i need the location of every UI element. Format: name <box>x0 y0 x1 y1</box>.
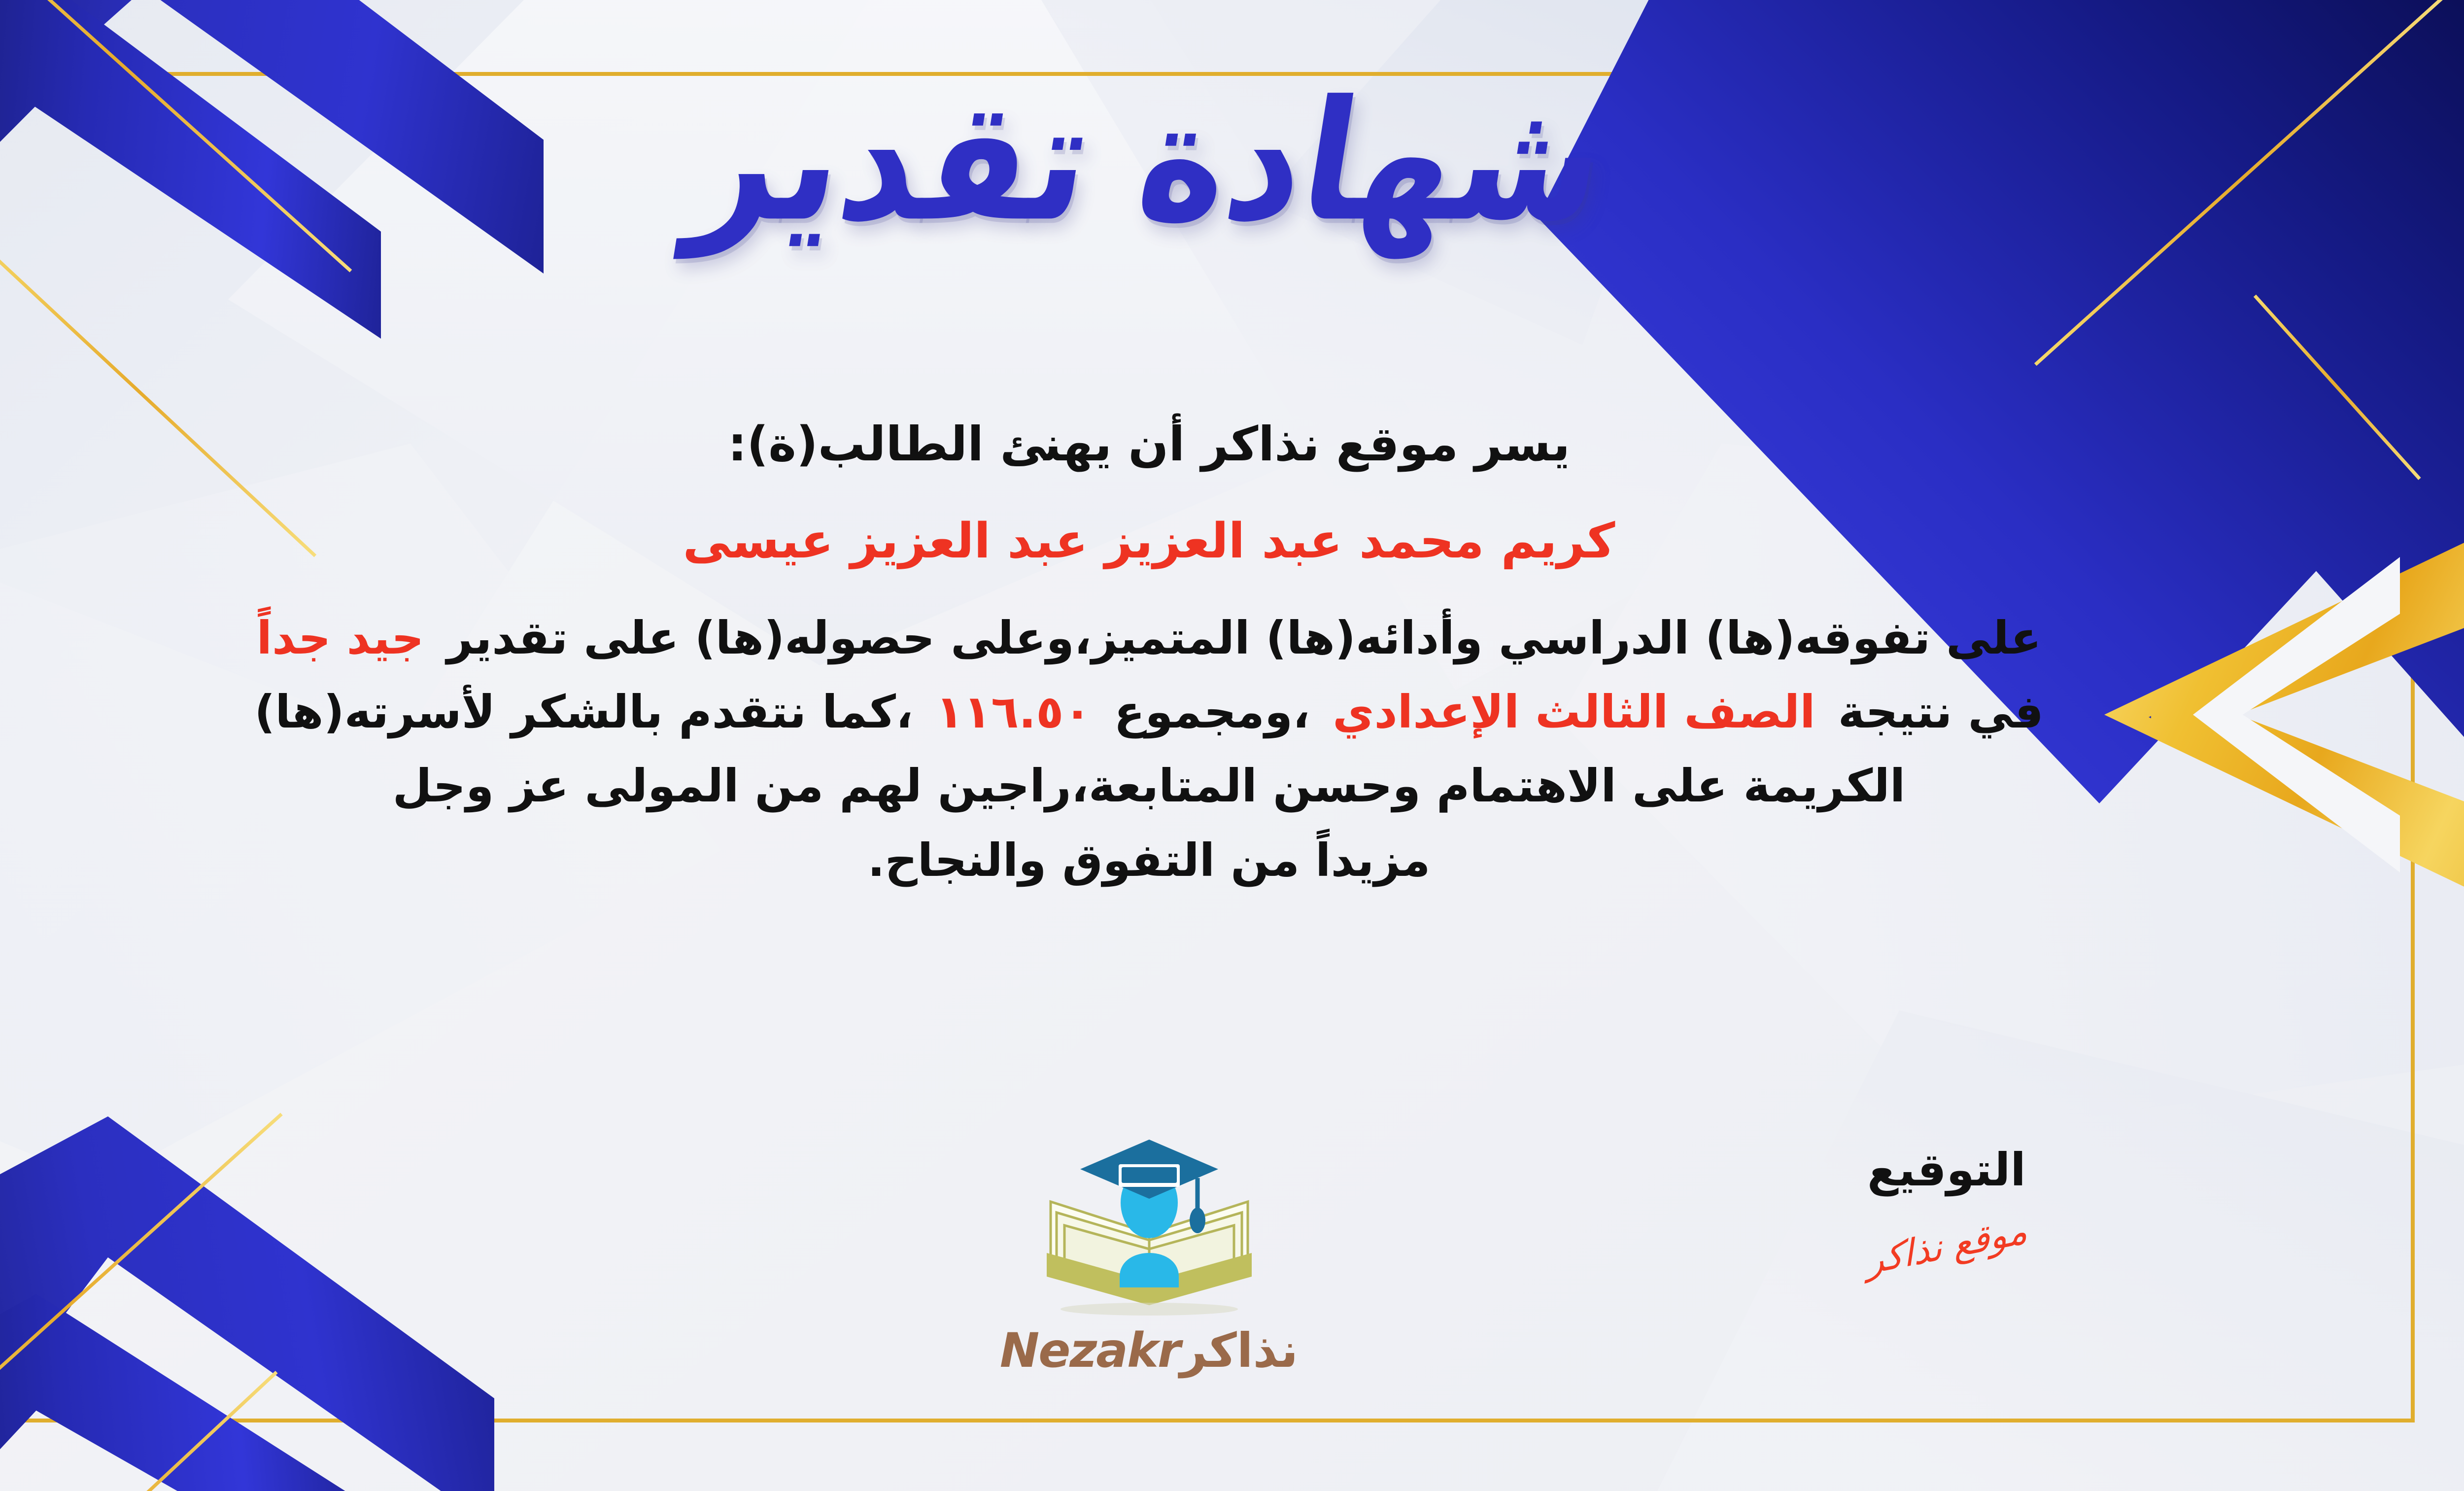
logo-latin-text: Nezakr <box>1000 1323 1180 1378</box>
achievement-line: على تفوقه(ها) الدراسي وأدائه(ها) المتميز… <box>0 605 2301 672</box>
closing-line: مزيداً من التفوق والنجاح. <box>0 827 2301 894</box>
result-prefix-text: في نتيجة <box>1838 686 2044 738</box>
logo-wordmark: نذاكرNezakr <box>0 1323 2464 1378</box>
brand-logo: نذاكرNezakr <box>0 1129 2464 1378</box>
class-value: الصف الثالث الإعدادي <box>1333 686 1815 738</box>
logo-arabic-text: نذاكر <box>1180 1323 1298 1378</box>
family-thanks-line: الكريمة على الاهتمام وحسن المتابعة،راجين… <box>0 753 2301 820</box>
thanks-prefix-text: ،كما نتقدم بالشكر لأسرته(ها) <box>254 686 913 738</box>
certificate-body: يسر موقع نذاكر أن يهنئ الطالب(ة): كريم م… <box>0 409 2301 900</box>
total-score-value: ١١٦.٥٠ <box>936 686 1092 738</box>
certificate-title: شهادة تقدير <box>681 74 1616 248</box>
total-prefix-text: ،ومجموع <box>1114 686 1310 738</box>
achievement-text: على تفوقه(ها) الدراسي وأدائه(ها) المتميز… <box>446 612 2041 664</box>
grade-value: جيد جداً <box>256 612 424 664</box>
intro-line: يسر موقع نذاكر أن يهنئ الطالب(ة): <box>0 409 2301 479</box>
certificate-title-area: شهادة تقدير <box>0 84 2464 239</box>
class-and-score-line: في نتيجةالصف الثالث الإعدادي،ومجموع١١٦.٥… <box>0 679 2301 746</box>
student-name: كريم محمد عبد العزيز عبد العزيز عيسى <box>0 506 2301 577</box>
certificate-canvas: شهادة تقدير يسر موقع نذاكر أن يهنئ الطال… <box>0 0 2464 1491</box>
logo-graphic <box>1021 1129 1277 1326</box>
